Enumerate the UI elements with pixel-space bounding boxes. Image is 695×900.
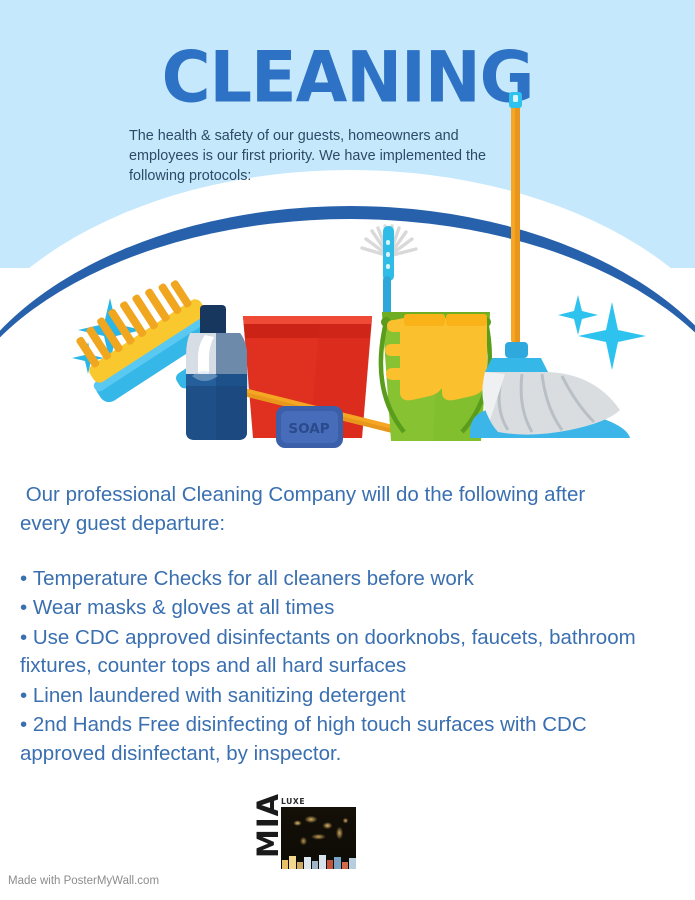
list-item: 2nd Hands Free disinfecting of high touc… xyxy=(20,711,640,769)
mop-icon xyxy=(509,92,522,344)
logo-building xyxy=(297,862,304,869)
yellow-gloves-icon xyxy=(385,314,487,400)
logo-building xyxy=(282,860,289,869)
logo-building xyxy=(312,861,319,869)
list-item: Temperature Checks for all cleaners befo… xyxy=(20,565,640,594)
footer-credit: Made with PosterMyWall.com xyxy=(8,875,159,887)
logo-building xyxy=(327,860,334,869)
list-item: Use CDC approved disinfectants on doorkn… xyxy=(20,624,640,682)
soap-bar-icon: SOAP xyxy=(276,406,343,448)
protocol-list: Temperature Checks for all cleaners befo… xyxy=(20,565,640,769)
logo-photo xyxy=(281,807,356,869)
company-logo: MIA LUXE PROPERTIES xyxy=(250,797,356,869)
cleaning-supplies-illustration: SOAP xyxy=(0,80,695,452)
list-item: Linen laundered with sanitizing detergen… xyxy=(20,682,640,711)
logo-building xyxy=(334,857,341,869)
logo-photo-buildings xyxy=(281,854,356,869)
logo-mark-text: MIA xyxy=(251,798,285,858)
logo-building xyxy=(349,858,356,869)
intro-paragraph: Our professional Cleaning Company will d… xyxy=(20,481,640,539)
logo-building xyxy=(342,862,349,869)
mop-head-icon xyxy=(470,342,630,438)
poster-canvas: CLEANING The health & safety of our gues… xyxy=(0,0,695,900)
soap-bar-label: SOAP xyxy=(288,421,329,437)
logo-building xyxy=(289,856,296,869)
list-item: Wear masks & gloves at all times xyxy=(20,594,640,623)
body-content: Our professional Cleaning Company will d… xyxy=(20,481,640,770)
logo-building xyxy=(304,857,311,869)
logo-building xyxy=(319,855,326,869)
sparkle-icon xyxy=(558,295,646,370)
